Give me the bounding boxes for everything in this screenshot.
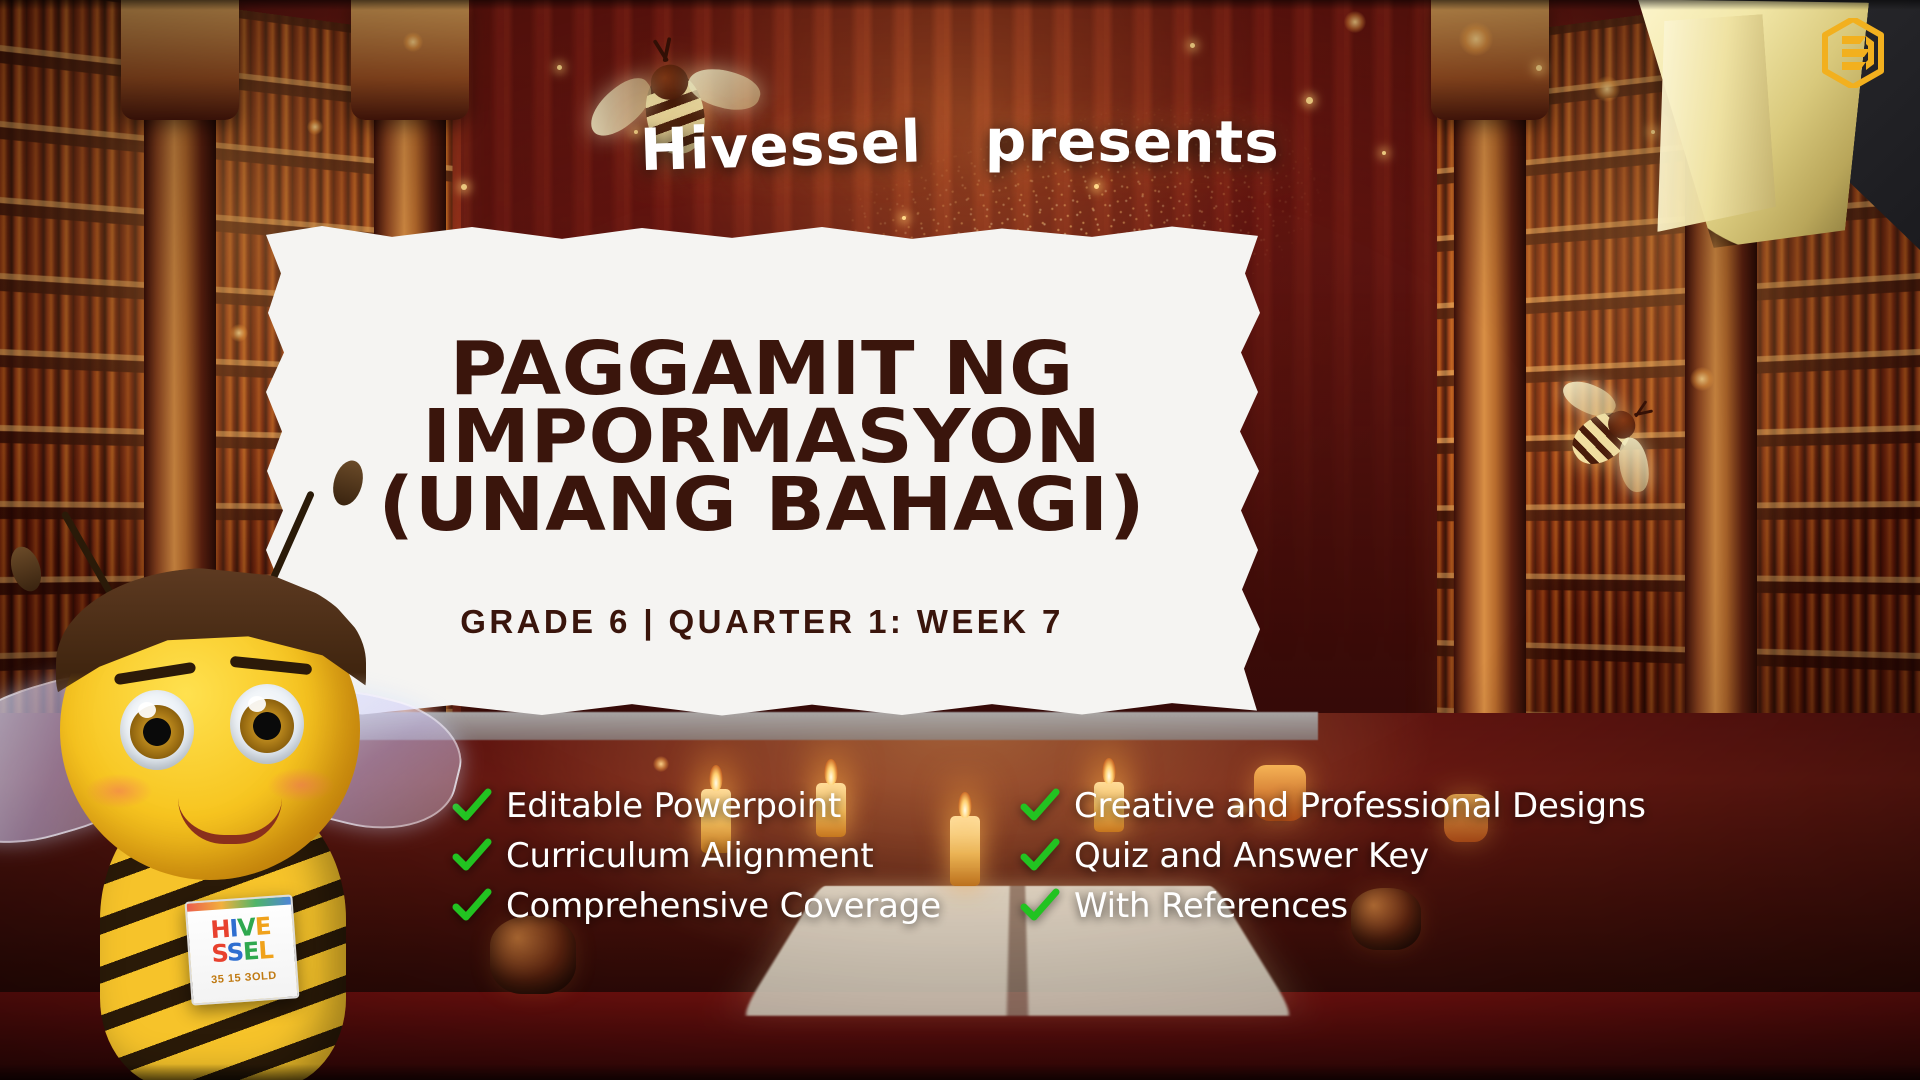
check-mark-icon — [1020, 886, 1060, 926]
check-mark-icon — [452, 786, 492, 826]
feature-label: With References — [1074, 886, 1348, 926]
mascot-eye-left — [120, 690, 194, 770]
book-subtitle: 35 15 ЗOLD — [211, 970, 277, 987]
feature-item: Editable Powerpoint — [452, 786, 982, 826]
top-edge-fade — [0, 0, 1920, 10]
mascot-blush — [86, 774, 152, 808]
mascot-eye-right — [230, 684, 304, 764]
title-line-3: (UNANG BAHAGI) — [379, 471, 1146, 539]
grade-quarter-week-subtitle: GRADE 6 | QUARTER 1: WEEK 7 — [460, 603, 1063, 641]
presents-word-text: presents — [985, 106, 1280, 176]
feature-item: Creative and Professional Designs — [1020, 786, 1872, 826]
bottom-edge-fade — [0, 1064, 1920, 1080]
mascot-book: HIVE SSEL 35 15 ЗOLD — [185, 894, 300, 1005]
title-line-2: IMPORMASYON — [379, 403, 1146, 471]
bee-mascot: HIVE SSEL 35 15 ЗOLD — [0, 468, 452, 1080]
check-mark-icon — [1020, 786, 1060, 826]
mascot-antenna-tip — [6, 543, 47, 595]
feature-label: Editable Powerpoint — [506, 786, 841, 826]
check-mark-icon — [1020, 836, 1060, 876]
title-line-1: PAGGAMIT NG — [379, 335, 1146, 403]
book-title-line-2: SSEL — [211, 938, 274, 966]
slide-canvas: Hivessel presents PAGGAMIT NG IMPORMASYO… — [0, 0, 1920, 1080]
feature-label: Creative and Professional Designs — [1074, 786, 1646, 826]
mascot-blush — [268, 768, 334, 802]
feature-label: Comprehensive Coverage — [506, 886, 941, 926]
feature-item: Comprehensive Coverage — [452, 886, 982, 926]
brand-name-text: Hivessel — [639, 107, 923, 184]
feature-item: Curriculum Alignment — [452, 836, 982, 876]
hexagon-monogram-logo[interactable] — [1822, 18, 1884, 88]
feature-list: Editable Powerpoint Creative and Profess… — [452, 786, 1872, 926]
feature-label: Curriculum Alignment — [506, 836, 873, 876]
feature-item: Quiz and Answer Key — [1020, 836, 1872, 876]
feature-label: Quiz and Answer Key — [1074, 836, 1429, 876]
page-title: PAGGAMIT NG IMPORMASYON (UNANG BAHAGI) — [379, 335, 1146, 539]
check-mark-icon — [452, 886, 492, 926]
feature-item: With References — [1020, 886, 1872, 926]
check-mark-icon — [452, 836, 492, 876]
